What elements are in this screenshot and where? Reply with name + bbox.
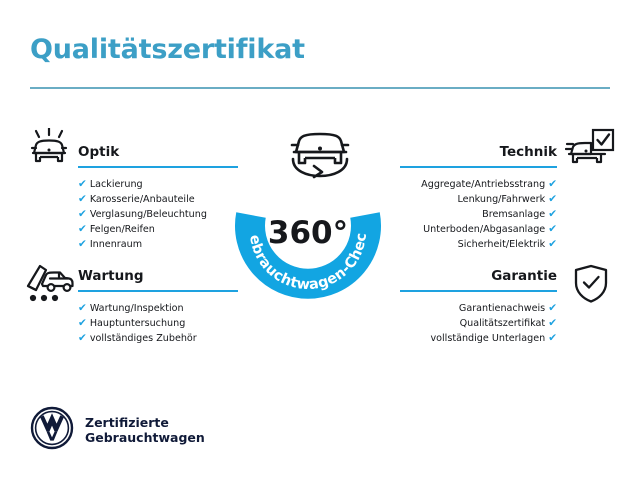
badge-center-label: 360° (268, 215, 348, 251)
list-item-label: Garantienachweis (459, 303, 545, 314)
car-rotation-360-icon (283, 121, 357, 185)
check-icon: ✔ (548, 223, 557, 235)
section-rule-technik (400, 166, 557, 168)
check-icon: ✔ (78, 317, 87, 329)
list-item: ✔Verglasung/Beleuchtung (78, 207, 238, 222)
vw-brand-lockup: Zertifizierte Gebrauchtwagen (30, 406, 205, 454)
list-item: Garantienachweis✔ (400, 301, 557, 316)
list-item: Qualitätszertifikat✔ (400, 316, 557, 331)
section-heading-garantie: Garantie (400, 268, 557, 285)
list-item-label: Karosserie/Anbauteile (90, 194, 195, 205)
list-item-label: Felgen/Reifen (90, 224, 155, 235)
list-item-label: Unterboden/Abgasanlage (423, 224, 545, 235)
list-item-label: Bremsanlage (482, 209, 545, 220)
section-optik: Optik ✔Lackierung ✔Karosserie/Anbauteile… (78, 144, 238, 252)
list-item: ✔Karosserie/Anbauteile (78, 192, 238, 207)
vw-lockup-line1: Zertifizierte (85, 415, 169, 430)
list-item-label: Qualitätszertifikat (460, 318, 546, 329)
check-icon: ✔ (548, 178, 557, 190)
list-item-label: Innenraum (90, 239, 142, 250)
section-garantie: Garantie Garantienachweis✔ Qualitätszert… (400, 268, 557, 346)
list-item-label: Aggregate/Antriebsstrang (421, 179, 545, 190)
car-checkbox-icon (565, 128, 615, 172)
list-item: Lenkung/Fahrwerk✔ (400, 192, 557, 207)
check-icon: ✔ (78, 238, 87, 250)
list-item: Bremsanlage✔ (400, 207, 557, 222)
check-icon: ✔ (78, 178, 87, 190)
check-icon: ✔ (78, 302, 87, 314)
section-technik: Technik Aggregate/Antriebsstrang✔ Lenkun… (400, 144, 557, 252)
section-heading-technik: Technik (400, 144, 557, 161)
checklist-optik: ✔Lackierung ✔Karosserie/Anbauteile ✔Verg… (78, 177, 238, 252)
list-item: ✔Innenraum (78, 237, 238, 252)
shield-check-icon (572, 263, 610, 309)
checklist-technik: Aggregate/Antriebsstrang✔ Lenkung/Fahrwe… (400, 177, 557, 252)
list-item-label: Verglasung/Beleuchtung (90, 209, 207, 220)
list-item-label: Lackierung (90, 179, 143, 190)
check-icon: ✔ (78, 223, 87, 235)
list-item: ✔Wartung/Inspektion (78, 301, 238, 316)
list-item: ✔Lackierung (78, 177, 238, 192)
list-item-label: Hauptuntersuchung (90, 318, 185, 329)
check-icon: ✔ (548, 317, 557, 329)
vw-lockup-text: Zertifizierte Gebrauchtwagen (85, 415, 205, 446)
section-heading-optik: Optik (78, 144, 238, 161)
volkswagen-logo (30, 406, 74, 454)
list-item-label: Lenkung/Fahrwerk (457, 194, 545, 205)
list-item-label: vollständige Unterlagen (430, 333, 545, 344)
section-rule-optik (78, 166, 238, 168)
check-icon: ✔ (548, 208, 557, 220)
check-icon: ✔ (78, 208, 87, 220)
section-heading-wartung: Wartung (78, 268, 238, 285)
pen-car-service-icon (24, 262, 76, 308)
list-item-label: Sicherheit/Elektrik (458, 239, 546, 250)
section-rule-wartung (78, 290, 238, 292)
check-icon: ✔ (78, 193, 87, 205)
list-item: Aggregate/Antriebsstrang✔ (400, 177, 557, 192)
check-icon: ✔ (78, 332, 87, 344)
section-wartung: Wartung ✔Wartung/Inspektion ✔Hauptunters… (78, 268, 238, 346)
list-item-label: Wartung/Inspektion (90, 303, 184, 314)
check-icon: ✔ (548, 238, 557, 250)
title-divider (30, 87, 610, 89)
page-title: Qualitätszertifikat (30, 34, 305, 65)
list-item: ✔Felgen/Reifen (78, 222, 238, 237)
section-rule-garantie (400, 290, 557, 292)
list-item: Unterboden/Abgasanlage✔ (400, 222, 557, 237)
check-icon: ✔ (548, 332, 557, 344)
list-item: Sicherheit/Elektrik✔ (400, 237, 557, 252)
list-item: vollständige Unterlagen✔ (400, 331, 557, 346)
car-shine-icon (27, 128, 73, 172)
checklist-garantie: Garantienachweis✔ Qualitätszertifikat✔ v… (400, 301, 557, 346)
check-icon: ✔ (548, 193, 557, 205)
vw-lockup-line2: Gebrauchtwagen (85, 430, 205, 445)
check-icon: ✔ (548, 302, 557, 314)
checklist-wartung: ✔Wartung/Inspektion ✔Hauptuntersuchung ✔… (78, 301, 238, 346)
list-item: ✔vollständiges Zubehör (78, 331, 238, 346)
list-item: ✔Hauptuntersuchung (78, 316, 238, 331)
list-item-label: vollständiges Zubehör (90, 333, 197, 344)
